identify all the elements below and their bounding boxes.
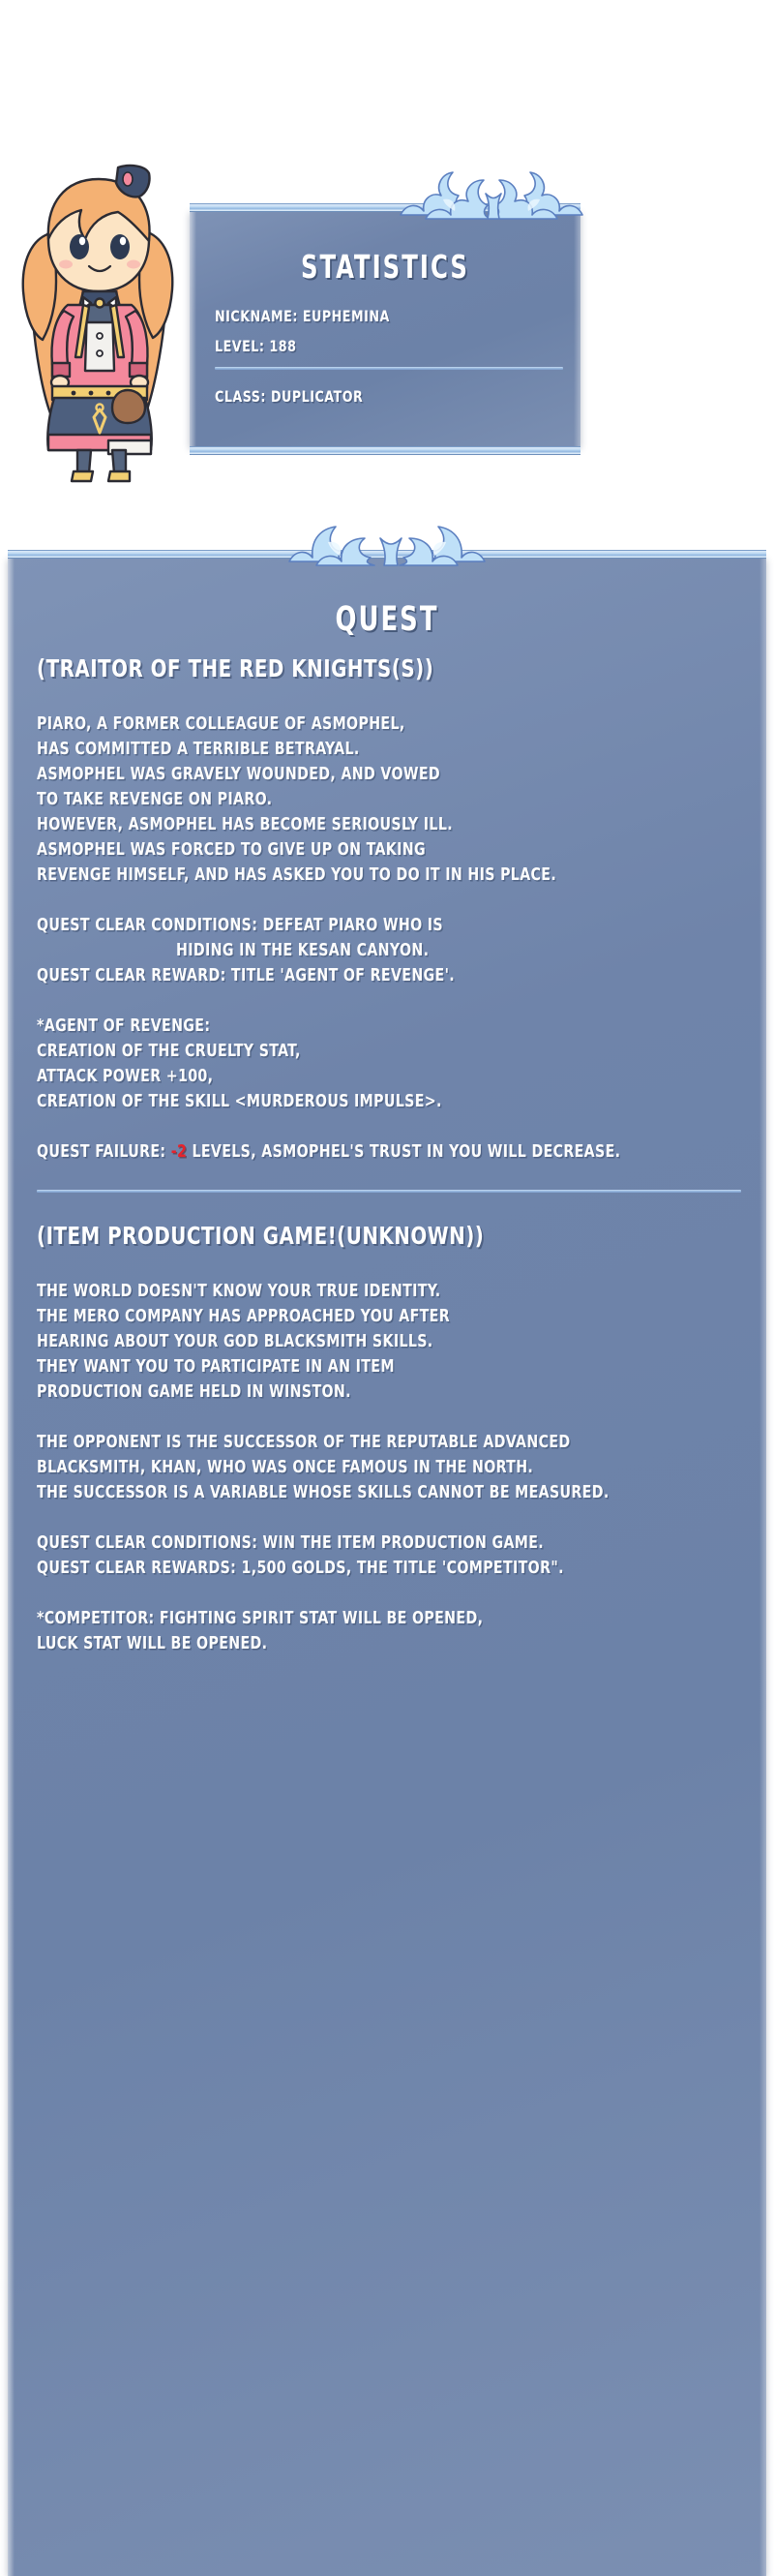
quest-failure-prefix: QUEST FAILURE: [37, 1142, 171, 1162]
quest-line: BLACKSMITH, KHAN, WHO WAS ONCE FAMOUS IN… [37, 1455, 670, 1480]
quest-line: THE SUCCESSOR IS A VARIABLE WHOSE SKILLS… [37, 1480, 670, 1505]
statistics-panel: STATISTICS NICKNAME: EUPHEMINA LEVEL: 18… [190, 211, 580, 447]
quest-clear-conditions-cont: HIDING IN THE KESAN CANYON. [37, 938, 670, 963]
quest-failure-value: -2 [171, 1142, 187, 1162]
quest-line: *COMPETITOR: FIGHTING SPIRIT STAT WILL B… [37, 1606, 670, 1631]
statistics-rows: NICKNAME: EUPHEMINA LEVEL: 188 CLASS: DU… [215, 307, 563, 417]
quest-line: ATTACK POWER +100, [37, 1064, 670, 1089]
quest-line: REVENGE HIMSELF, AND HAS ASKED YOU TO DO… [37, 863, 670, 888]
statistics-divider [215, 367, 563, 370]
quest-line: TO TAKE REVENGE ON PIARO. [37, 787, 670, 812]
quest-line: HOWEVER, ASMOPHEL HAS BECOME SERIOUSLY I… [37, 812, 670, 837]
quest-section-heading: (ITEM PRODUCTION GAME!(UNKNOWN)) [37, 1222, 657, 1250]
quest-line: PRODUCTION GAME HELD IN WINSTON. [37, 1379, 670, 1405]
quest-section-item-production-game: (ITEM PRODUCTION GAME!(UNKNOWN)) THE WOR… [37, 1222, 741, 1656]
quest-content: (TRAITOR OF THE RED KNIGHTS(S)) PIARO, A… [37, 654, 741, 1682]
quest-clear-rewards: QUEST CLEAR REWARDS: 1,500 GOLDS, THE TI… [37, 1556, 670, 1581]
statistics-row-nickname: NICKNAME: EUPHEMINA [215, 307, 521, 325]
quest-line: *AGENT OF REVENGE: [37, 1014, 670, 1039]
quest-section-traitor-of-the-red-knights: (TRAITOR OF THE RED KNIGHTS(S)) PIARO, A… [37, 654, 741, 1193]
quest-paragraph: THE OPPONENT IS THE SUCCESSOR OF THE REP… [37, 1430, 741, 1505]
quest-line: HEARING ABOUT YOUR GOD BLACKSMITH SKILLS… [37, 1329, 670, 1354]
statistics-row-class: CLASS: DUPLICATOR [215, 387, 521, 406]
title-agent-of-revenge-block: *AGENT OF REVENGE: CREATION OF THE CRUEL… [37, 1014, 741, 1114]
quest-line: LUCK STAT WILL BE OPENED. [37, 1631, 670, 1656]
quest-section-heading: (TRAITOR OF THE RED KNIGHTS(S)) [37, 654, 657, 682]
quest-line: THE MERO COMPANY HAS APPROACHED YOU AFTE… [37, 1304, 670, 1329]
statistics-row-level: LEVEL: 188 [215, 337, 521, 355]
quest-line: THE OPPONENT IS THE SUCCESSOR OF THE REP… [37, 1430, 670, 1455]
quest-paragraph: PIARO, A FORMER COLLEAGUE OF ASMOPHEL, H… [37, 712, 741, 888]
quest-clear-conditions: QUEST CLEAR CONDITIONS: WIN THE ITEM PRO… [37, 1530, 670, 1556]
quest-panel-top-bar [8, 550, 766, 559]
statistics-title: STATISTICS [224, 248, 545, 286]
quest-line: HAS COMMITTED A TERRIBLE BETRAYAL. [37, 737, 670, 762]
quest-paragraph: THE WORLD DOESN'T KNOW YOUR TRUE IDENTIT… [37, 1279, 741, 1405]
title-competitor-block: *COMPETITOR: FIGHTING SPIRIT STAT WILL B… [37, 1606, 741, 1656]
statistics-panel-top-bar [190, 203, 580, 212]
quest-failure-suffix: LEVELS, ASMOPHEL'S TRUST IN YOU WILL DEC… [187, 1142, 620, 1162]
quest-line: CREATION OF THE CRUELTY STAT, [37, 1039, 670, 1064]
quest-clear-conditions: QUEST CLEAR CONDITIONS: DEFEAT PIARO WHO… [37, 913, 670, 938]
quest-clear-conditions-block: QUEST CLEAR CONDITIONS: DEFEAT PIARO WHO… [37, 913, 741, 988]
quest-clear-reward: QUEST CLEAR REWARD: TITLE 'AGENT OF REVE… [37, 963, 670, 988]
quest-title: QUEST [76, 600, 699, 639]
quest-failure-line: QUEST FAILURE: -2 LEVELS, ASMOPHEL'S TRU… [37, 1139, 670, 1165]
quest-panel: QUEST (TRAITOR OF THE RED KNIGHTS(S)) PI… [8, 558, 766, 2576]
quest-section-divider [37, 1190, 741, 1193]
quest-line: CREATION OF THE SKILL <MURDEROUS IMPULSE… [37, 1089, 670, 1114]
quest-line: ASMOPHEL WAS FORCED TO GIVE UP ON TAKING [37, 837, 670, 863]
quest-line: PIARO, A FORMER COLLEAGUE OF ASMOPHEL, [37, 712, 670, 737]
quest-line: THE WORLD DOESN'T KNOW YOUR TRUE IDENTIT… [37, 1279, 670, 1304]
quest-clear-conditions-block: QUEST CLEAR CONDITIONS: WIN THE ITEM PRO… [37, 1530, 741, 1581]
quest-line: THEY WANT YOU TO PARTICIPATE IN AN ITEM [37, 1354, 670, 1379]
quest-failure-block: QUEST FAILURE: -2 LEVELS, ASMOPHEL'S TRU… [37, 1139, 741, 1165]
character-avatar [8, 150, 192, 484]
quest-line: ASMOPHEL WAS GRAVELY WOUNDED, AND VOWED [37, 762, 670, 787]
statistics-panel-bottom-bar [190, 446, 580, 455]
